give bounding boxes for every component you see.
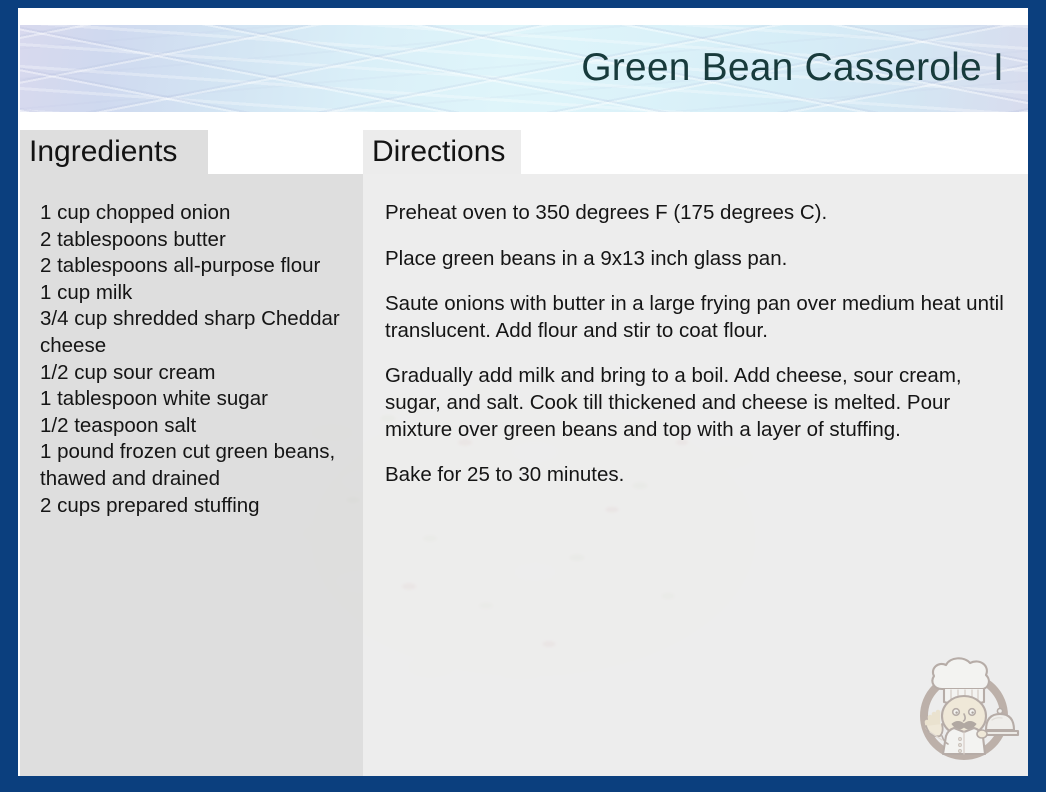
ingredient-item: 2 tablespoons all-purpose flour (40, 253, 358, 280)
directions-list: Preheat oven to 350 degrees F (175 degre… (385, 200, 1021, 508)
ingredients-list: 1 cup chopped onion2 tablespoons butter2… (40, 200, 358, 519)
directions-panel: Preheat oven to 350 degrees F (175 degre… (363, 174, 1028, 776)
tab-ingredients[interactable]: Ingredients (20, 130, 208, 174)
ingredient-item: 1 pound frozen cut green beans, thawed a… (40, 439, 358, 492)
page-title: Green Bean Casserole I (581, 46, 1004, 90)
recipe-slide: Green Bean Casserole I Ingredients Direc… (0, 0, 1046, 792)
ingredient-item: 1/2 teaspoon salt (40, 413, 358, 440)
slide-canvas: Green Bean Casserole I Ingredients Direc… (18, 8, 1028, 776)
direction-step: Preheat oven to 350 degrees F (175 degre… (385, 200, 1021, 227)
direction-step: Bake for 25 to 30 minutes. (385, 462, 1021, 489)
direction-step: Saute onions with butter in a large fryi… (385, 291, 1021, 344)
direction-step: Place green beans in a 9x13 inch glass p… (385, 246, 1021, 273)
ingredient-item: 1 cup milk (40, 280, 358, 307)
header-banner: Green Bean Casserole I (20, 25, 1028, 112)
ingredients-panel: 1 cup chopped onion2 tablespoons butter2… (20, 174, 363, 776)
ingredient-item: 1/2 cup sour cream (40, 360, 358, 387)
ingredient-item: 1 tablespoon white sugar (40, 386, 358, 413)
ingredient-item: 2 cups prepared stuffing (40, 493, 358, 520)
tab-directions[interactable]: Directions (363, 130, 521, 174)
ingredient-item: 2 tablespoons butter (40, 227, 358, 254)
direction-step: Gradually add milk and bring to a boil. … (385, 363, 1021, 443)
ingredient-item: 3/4 cup shredded sharp Cheddar cheese (40, 306, 358, 359)
ingredient-item: 1 cup chopped onion (40, 200, 358, 227)
